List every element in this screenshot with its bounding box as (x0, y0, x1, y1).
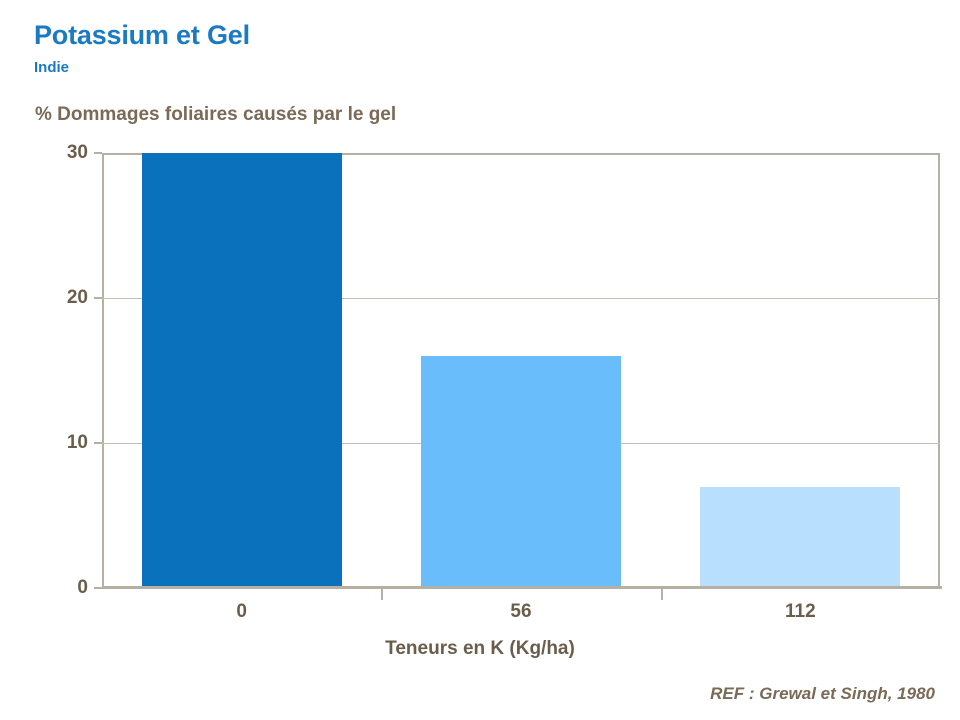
y-tick-label: 10 (67, 432, 88, 454)
bar (142, 153, 342, 588)
y-tick-mark (94, 152, 102, 154)
bar (421, 356, 621, 588)
y-tick-label: 20 (67, 287, 88, 309)
bar (700, 487, 900, 589)
x-tick-label: 0 (236, 601, 247, 623)
bars-layer (102, 153, 940, 588)
x-tick-mark (661, 589, 663, 600)
y-tick-label: 30 (67, 142, 88, 164)
page-title: Potassium et Gel (34, 20, 250, 51)
y-tick-mark (94, 297, 102, 299)
reference-note: REF : Grewal et Singh, 1980 (710, 684, 935, 704)
y-tick-mark (94, 587, 102, 589)
x-tick-label: 56 (510, 601, 531, 623)
chart-plot-area: 0102030 (102, 153, 940, 588)
y-axis-label: % Dommages foliaires causés par le gel (35, 104, 396, 126)
x-tick-mark (381, 589, 383, 600)
x-tick-label: 112 (785, 601, 816, 623)
y-tick-mark (94, 442, 102, 444)
page-subtitle: Indie (34, 59, 69, 76)
x-axis-title: Teneurs en K (Kg/ha) (0, 638, 960, 660)
y-tick-label: 0 (77, 577, 88, 599)
x-axis-line (102, 586, 942, 589)
